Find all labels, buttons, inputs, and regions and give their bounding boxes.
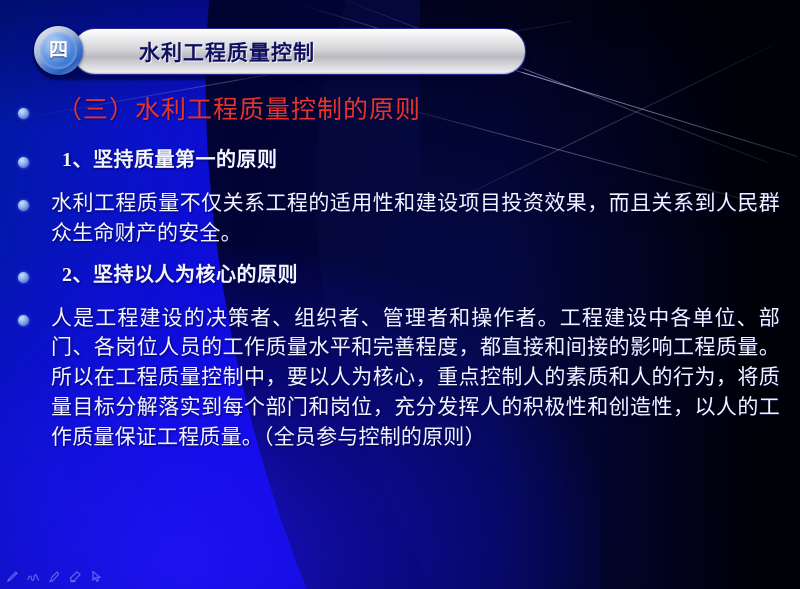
point2-body-wrap: 人是工程建设的决策者、组织者、管理者和操作者。工程建设中各单位、部门、各岗位人员… [29,304,800,453]
section-number-text: 四 [49,41,68,60]
highlighter-icon[interactable] [46,568,63,585]
section-number-badge: 四 [34,26,83,75]
heading-text-wrap: （三）水利工程质量控制的原则 [29,96,800,126]
content-row-heading: （三）水利工程质量控制的原则 [0,96,800,126]
bullet-icon [18,272,29,283]
section-number-badge-inner: 四 [40,32,77,69]
squiggle-icon[interactable] [25,568,42,585]
bullet-icon [18,315,29,326]
pointer-icon[interactable] [88,568,105,585]
point-1-body: 水利工程质量不仅关系工程的适用性和建设项目投资效果，而且关系到人民群众生命财产的… [51,189,780,249]
point-2-body: 人是工程建设的决策者、组织者、管理者和操作者。工程建设中各单位、部门、各岗位人员… [51,304,780,453]
presentation-slide: 水利工程质量控制 四 （三）水利工程质量控制的原则 1、坚持质量第一的原则 [0,0,800,589]
spacer-4 [0,288,800,304]
point1-title-wrap: 1、坚持质量第一的原则 [29,148,800,173]
content-row-point1-body: 水利工程质量不仅关系工程的适用性和建设项目投资效果，而且关系到人民群众生命财产的… [0,189,800,249]
section-title: 水利工程质量控制 [139,37,315,67]
title-bar-plate: 水利工程质量控制 [72,28,526,75]
spacer-3 [0,249,800,263]
point-1-title: 1、坚持质量第一的原则 [62,148,780,173]
bullet-icon [18,108,29,119]
content-row-point1-title: 1、坚持质量第一的原则 [0,148,800,173]
spacer-1 [0,126,800,148]
slide-title-bar: 水利工程质量控制 四 [28,26,522,76]
bullet-icon [18,200,29,211]
slide-content: （三）水利工程质量控制的原则 1、坚持质量第一的原则 水利工程质量不仅关系工程的… [0,96,800,453]
annotation-toolbar[interactable] [4,568,105,585]
eraser-icon[interactable] [67,568,84,585]
point2-title-wrap: 2、坚持以人为核心的原则 [29,263,800,288]
content-row-point2-body: 人是工程建设的决策者、组织者、管理者和操作者。工程建设中各单位、部门、各岗位人员… [0,304,800,453]
bullet-icon [18,157,29,168]
point-2-title: 2、坚持以人为核心的原则 [62,263,780,288]
content-row-point2-title: 2、坚持以人为核心的原则 [0,263,800,288]
spacer-2 [0,173,800,189]
section-heading: （三）水利工程质量控制的原则 [57,96,780,126]
point1-body-wrap: 水利工程质量不仅关系工程的适用性和建设项目投资效果，而且关系到人民群众生命财产的… [29,189,800,249]
pen-icon[interactable] [4,568,21,585]
